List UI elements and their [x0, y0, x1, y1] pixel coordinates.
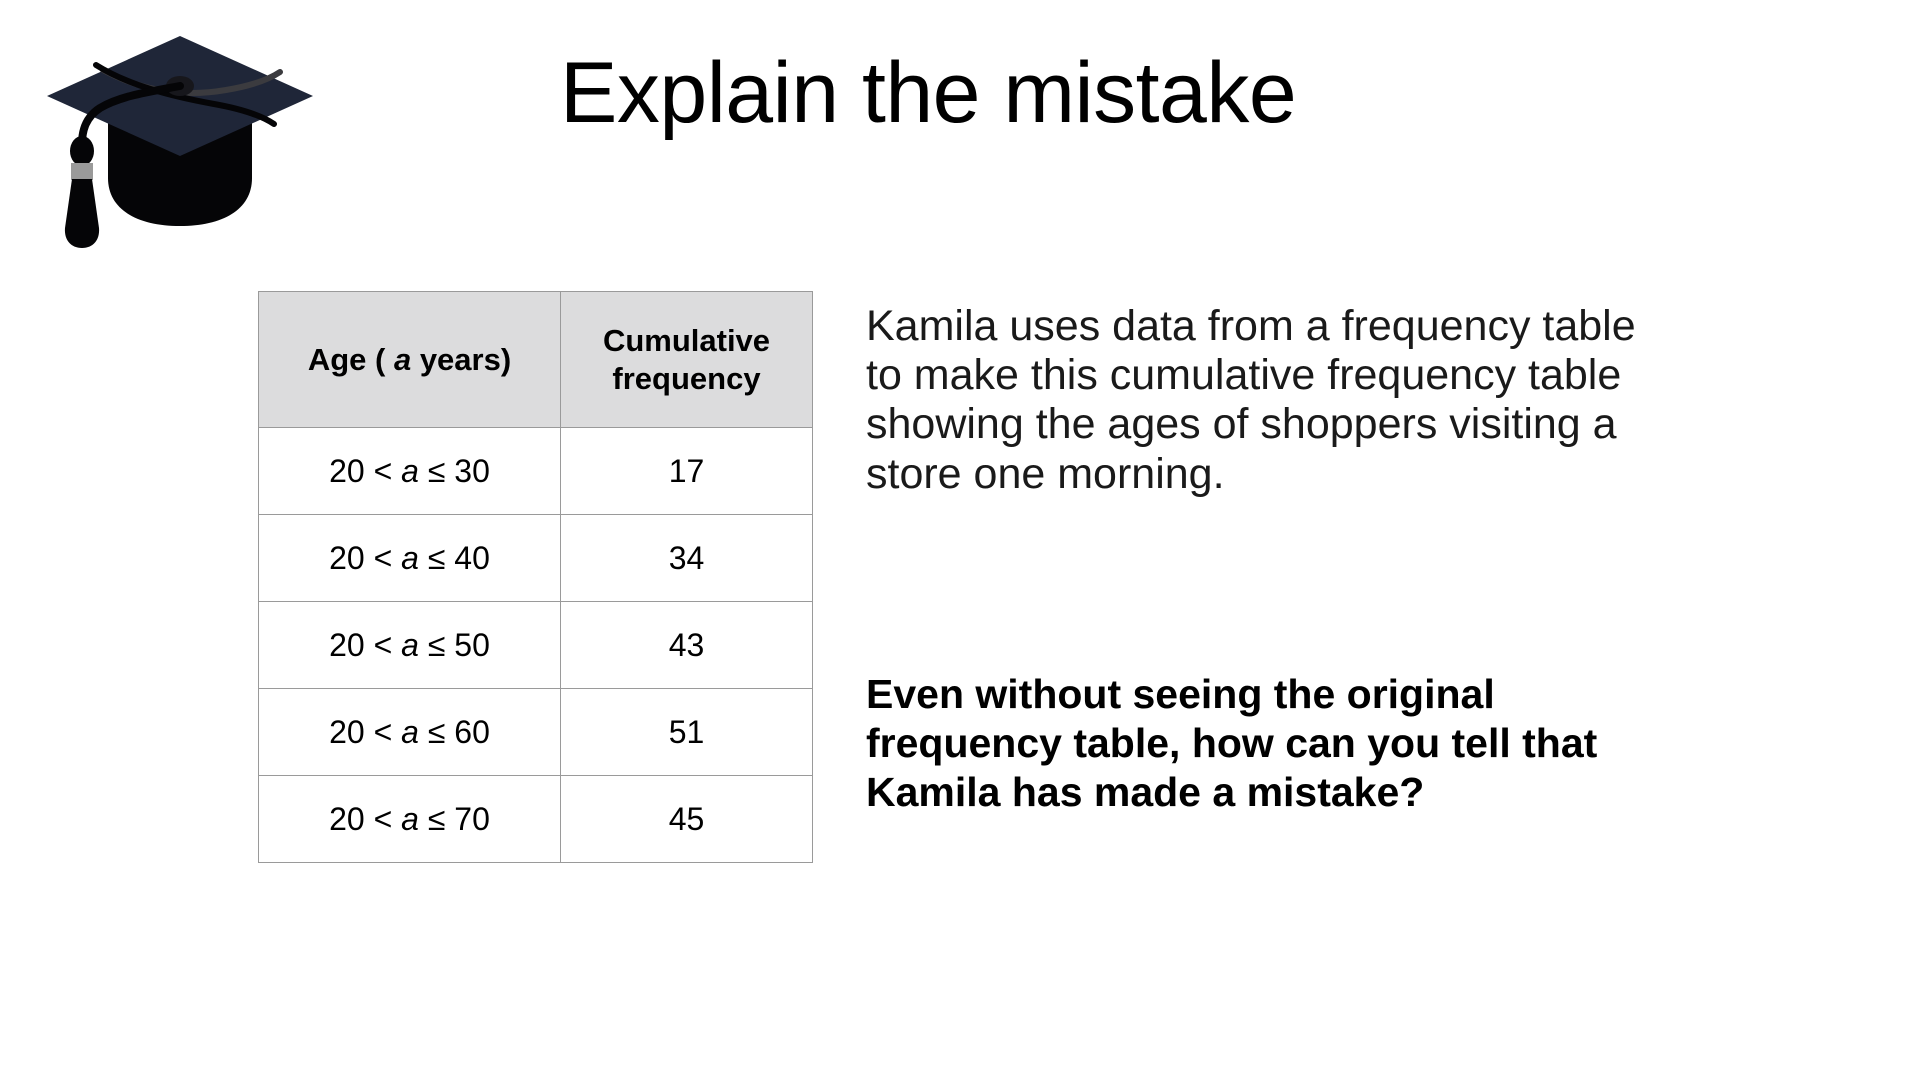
intro-paragraph: Kamila uses data from a frequency table … [866, 302, 1676, 499]
cell-cumulative-frequency: 43 [561, 602, 813, 689]
cell-cumulative-frequency: 34 [561, 515, 813, 602]
interval-lower: 20 < [329, 627, 392, 663]
header-age-prefix: Age ( [308, 342, 394, 377]
cell-age-interval: 20 < a ≤ 30 [259, 428, 561, 515]
interval-variable: a [401, 801, 419, 837]
cell-age-interval: 20 < a ≤ 50 [259, 602, 561, 689]
cumulative-frequency-table: Age ( a years) Cumulative frequency 20 <… [258, 291, 813, 863]
table-row: 20 < a ≤ 40 34 [259, 515, 813, 602]
header-age-variable: a [394, 342, 411, 377]
interval-upper: ≤ 30 [428, 453, 490, 489]
cell-cumulative-frequency: 51 [561, 689, 813, 776]
cell-age-interval: 20 < a ≤ 70 [259, 776, 561, 863]
interval-variable: a [401, 453, 419, 489]
question-paragraph: Even without seeing the original frequen… [866, 670, 1676, 818]
interval-upper: ≤ 70 [428, 801, 490, 837]
cell-age-interval: 20 < a ≤ 60 [259, 689, 561, 776]
table-header-cumulative-frequency: Cumulative frequency [561, 292, 813, 428]
table-header-age: Age ( a years) [259, 292, 561, 428]
table-row: 20 < a ≤ 30 17 [259, 428, 813, 515]
graduation-cap-icon [30, 18, 330, 268]
tassel-skirt [65, 179, 99, 248]
interval-lower: 20 < [329, 801, 392, 837]
table-row: 20 < a ≤ 70 45 [259, 776, 813, 863]
graduation-cap-logo [30, 18, 330, 268]
header-age-suffix: years) [411, 342, 511, 377]
cell-cumulative-frequency: 17 [561, 428, 813, 515]
table-row: 20 < a ≤ 50 43 [259, 602, 813, 689]
interval-upper: ≤ 60 [428, 714, 490, 750]
interval-lower: 20 < [329, 540, 392, 576]
table-row: 20 < a ≤ 60 51 [259, 689, 813, 776]
cell-age-interval: 20 < a ≤ 40 [259, 515, 561, 602]
page-title: Explain the mistake [560, 48, 1296, 138]
interval-variable: a [401, 627, 419, 663]
interval-variable: a [401, 540, 419, 576]
tassel-band [71, 163, 93, 180]
cell-cumulative-frequency: 45 [561, 776, 813, 863]
interval-lower: 20 < [329, 453, 392, 489]
interval-variable: a [401, 714, 419, 750]
tassel-knot [70, 136, 94, 166]
interval-lower: 20 < [329, 714, 392, 750]
table-header-row: Age ( a years) Cumulative frequency [259, 292, 813, 428]
interval-upper: ≤ 40 [428, 540, 490, 576]
interval-upper: ≤ 50 [428, 627, 490, 663]
